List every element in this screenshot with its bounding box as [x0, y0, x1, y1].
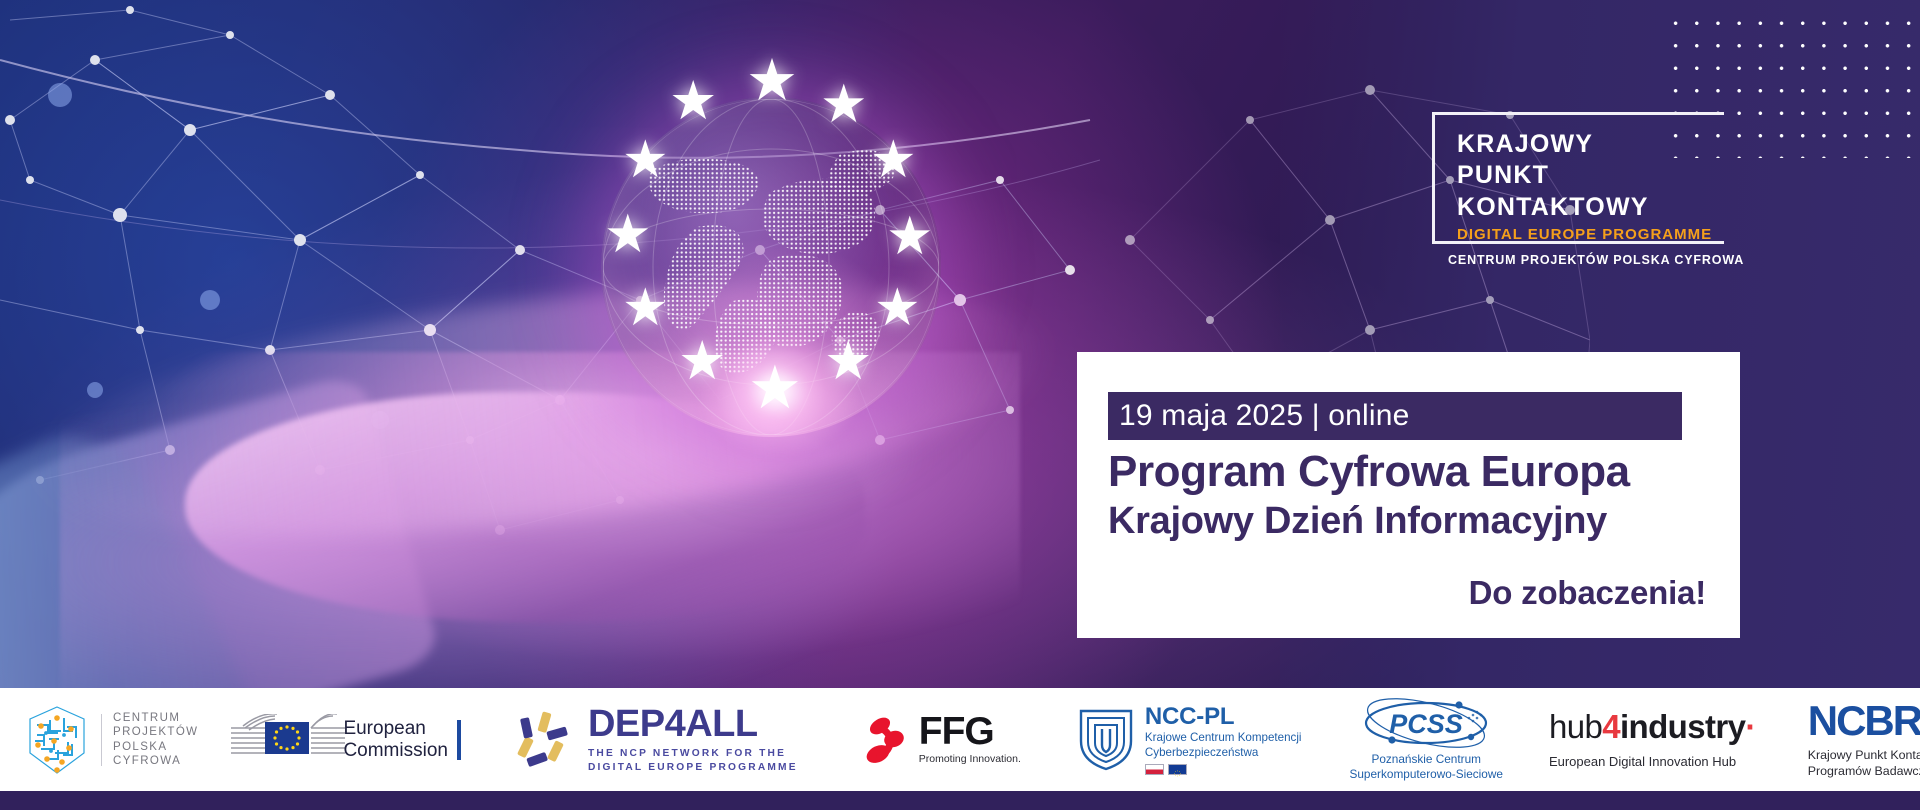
cppc-divider — [101, 714, 102, 766]
eu-star-icon: ★ — [622, 134, 669, 186]
event-info-card: 19 maja 2025 | online Program Cyfrowa Eu… — [1077, 352, 1740, 638]
logo-ffg[interactable]: FFG Promoting Innovation. — [864, 714, 1021, 766]
eu-star-icon: ★ — [870, 134, 917, 186]
hub4industry-wordmark: hub4industry· — [1549, 710, 1756, 744]
eu-star-icon: ★ — [820, 78, 868, 131]
hub4industry-tagline: European Digital Innovation Hub — [1549, 754, 1736, 770]
ncc-pl-wordmark: NCC-PL — [1145, 704, 1302, 729]
event-banner: ★ ★ ★ ★ ★ ★ ★ ★ ★ ★ ★ ★ KRAJOWY PUNKT KO… — [0, 0, 1920, 810]
eu-star-icon: ★ — [622, 282, 669, 334]
partner-logo-bar: CENTRUM PROJEKTÓW POLSKA CYFROWA — [0, 688, 1920, 791]
dep4all-wordmark: DEP4ALL — [588, 705, 798, 743]
ncc-pl-shield-icon — [1077, 707, 1135, 773]
date-badge-text: 19 maja 2025 | online — [1119, 399, 1410, 433]
dep4all-mark-icon — [517, 711, 575, 769]
eu-star-icon: ★ — [678, 334, 726, 388]
dep4all-tagline: THE NCP NETWORK FOR THE DIGITAL EUROPE P… — [588, 747, 798, 774]
logo-cppc[interactable]: CENTRUM PROJEKTÓW POLSKA CYFROWA — [24, 705, 198, 775]
poland-flag-icon — [1145, 764, 1164, 775]
eu-star-icon: ★ — [886, 210, 934, 263]
ec-accent-bar — [457, 720, 461, 760]
eu-star-icon: ★ — [669, 74, 717, 128]
logo-ncbr[interactable]: NCBR Krajowy Punkt Kontaktowy Programów … — [1808, 701, 1920, 779]
logo-ncc-pl[interactable]: NCC-PL Krajowe Centrum Kompetencji Cyber… — [1077, 704, 1302, 775]
logo-dep4all[interactable]: DEP4ALL THE NCP NETWORK FOR THE DIGITAL … — [517, 705, 798, 774]
eu-star-icon: ★ — [604, 208, 652, 261]
ffg-wordmark: FFG — [919, 714, 1021, 750]
logo-european-commission[interactable]: European Commission — [229, 714, 461, 766]
logo-hub4industry[interactable]: hub4industry· European Digital Innovatio… — [1549, 710, 1756, 770]
kpk-line2: PUNKT KONTAKTOWY — [1457, 159, 1714, 223]
svg-text:PCSS: PCSS — [1389, 709, 1463, 739]
eu-star-icon: ★ — [824, 334, 872, 388]
eu-star-icon: ★ — [748, 358, 802, 418]
event-title-line2: Krajowy Dzień Informacyjny — [1108, 498, 1607, 544]
eu-star-icon: ★ — [874, 282, 921, 334]
ffg-tagline: Promoting Innovation. — [919, 752, 1021, 766]
ncc-pl-flags — [1145, 764, 1302, 775]
logo-pcss[interactable]: PCSS Poznańskie Centrum Superkomputerowo… — [1350, 697, 1503, 782]
globe-with-stars: ★ ★ ★ ★ ★ ★ ★ ★ ★ ★ ★ ★ — [556, 52, 986, 482]
kpk-divider — [1432, 241, 1722, 244]
date-badge: 19 maja 2025 | online — [1108, 392, 1682, 440]
eu-star-icon: ★ — [746, 52, 798, 110]
ec-emblem-icon — [229, 714, 349, 766]
event-cta-text: Do zobaczenia! — [1469, 574, 1706, 612]
ncbr-tagline: Krajowy Punkt Kontaktowy Programów Badaw… — [1808, 747, 1920, 779]
pcss-mark-icon: PCSS — [1361, 697, 1491, 749]
ffg-mark-icon — [864, 714, 912, 766]
cppc-label: CENTRUM PROJEKTÓW POLSKA CYFROWA — [113, 711, 198, 769]
pcss-tagline: Poznańskie Centrum Superkomputerowo-Siec… — [1350, 752, 1503, 782]
hero-background: ★ ★ ★ ★ ★ ★ ★ ★ ★ ★ ★ ★ KRAJOWY PUNKT KO… — [0, 0, 1920, 688]
ec-label: European Commission — [343, 718, 448, 762]
eu-flag-icon — [1168, 764, 1187, 775]
kpk-line1: KRAJOWY — [1457, 129, 1714, 159]
bottom-accent-strip — [0, 791, 1920, 810]
ncc-pl-tagline: Krajowe Centrum Kompetencji Cyberbezpiec… — [1145, 731, 1302, 760]
ncbr-wordmark: NCBR — [1808, 701, 1920, 741]
kpk-logo-box: KRAJOWY PUNKT KONTAKTOWY DIGITAL EUROPE … — [1432, 112, 1724, 244]
kpk-institution-label: CENTRUM PROJEKTÓW POLSKA CYFROWA — [1448, 253, 1748, 267]
event-title-line1: Program Cyfrowa Europa — [1108, 446, 1630, 498]
cppc-mark-icon — [24, 705, 90, 775]
